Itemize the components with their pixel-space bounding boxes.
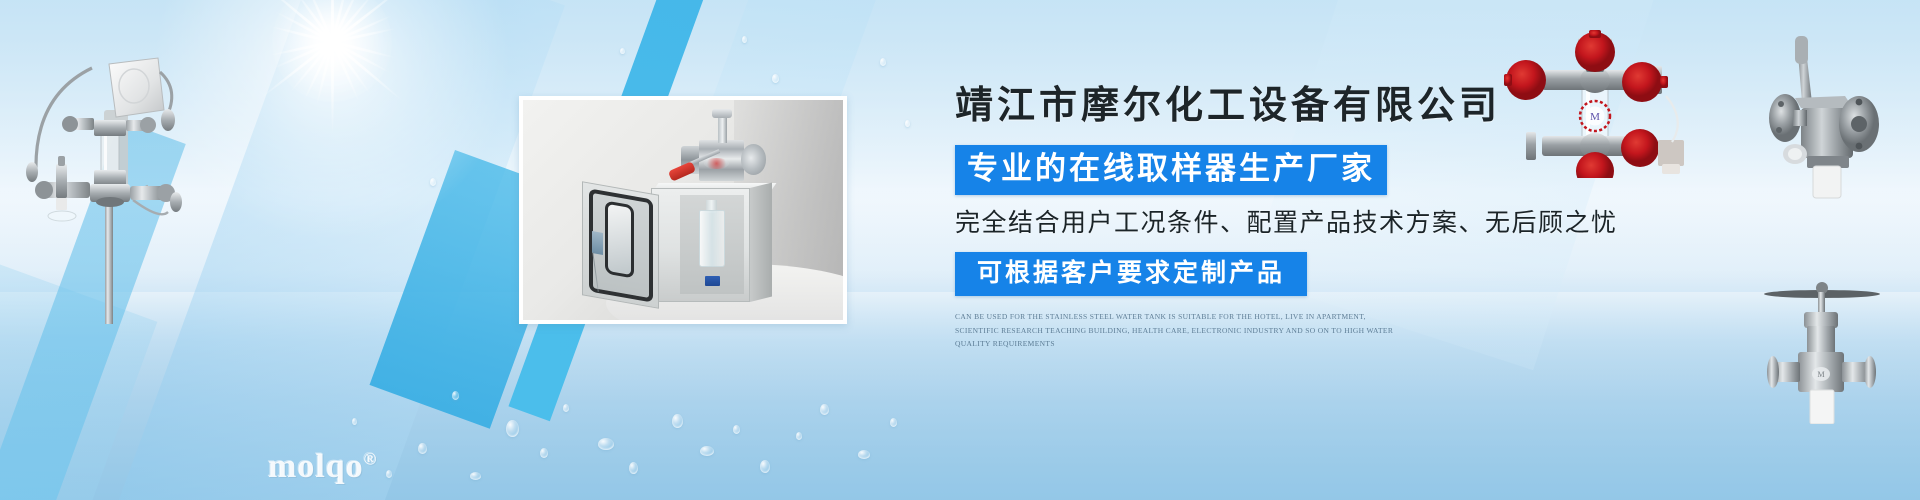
registered-trademark-icon: ® bbox=[364, 450, 378, 469]
watermark-text: molqo bbox=[268, 448, 364, 485]
sun-glow-decoration bbox=[152, 0, 512, 242]
right-product-lever-valve bbox=[1755, 26, 1915, 211]
tagline-primary-badge: 专业的在线取样器生产厂家 bbox=[955, 145, 1387, 195]
left-product-image bbox=[8, 24, 208, 324]
diagonal-stripe-decoration bbox=[84, 0, 565, 500]
company-name: 靖江市摩尔化工设备有限公司 bbox=[955, 80, 1715, 134]
brand-watermark: molqo® bbox=[268, 448, 377, 486]
tagline-custom-badge: 可根据客户要求定制产品 bbox=[955, 252, 1307, 296]
banner-text-block: 靖江市摩尔化工设备有限公司 专业的在线取样器生产厂家 完全结合用户工况条件、配置… bbox=[955, 80, 1715, 351]
promo-banner: M bbox=[0, 0, 1920, 500]
tagline-secondary: 完全结合用户工况条件、配置产品技术方案、无后顾之忧 bbox=[955, 208, 1715, 239]
center-product-photo bbox=[519, 96, 847, 324]
diagonal-stripe-decoration bbox=[0, 120, 186, 500]
svg-text:M: M bbox=[1817, 370, 1824, 379]
diagonal-stripe-decoration bbox=[0, 250, 157, 500]
english-description: CAN BE USED FOR THE STAINLESS STEEL WATE… bbox=[955, 310, 1405, 352]
sun-flare-icon bbox=[252, 0, 412, 122]
right-product-gate-valve: M bbox=[1760, 264, 1910, 424]
